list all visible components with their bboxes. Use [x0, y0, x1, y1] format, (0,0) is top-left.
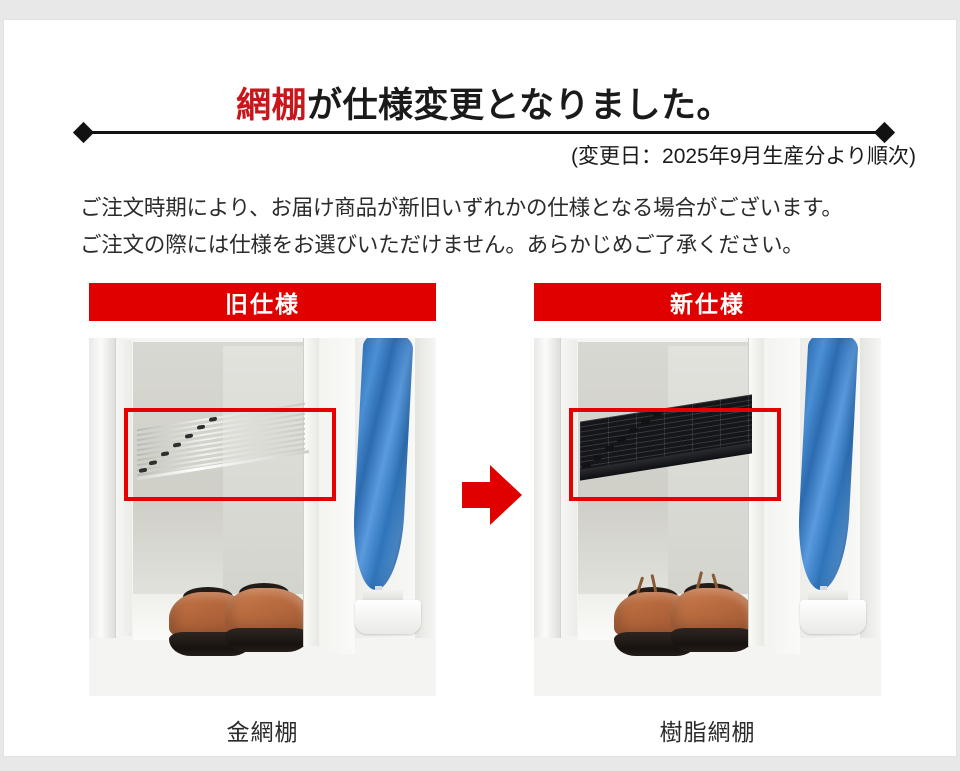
old-spec-bar: 旧仕様 — [89, 283, 436, 321]
body-line-1: ご注文時期により、お届け商品が新旧いずれかの仕様となる場合がございます。 — [80, 190, 900, 227]
old-spec-caption: 金網棚 — [89, 713, 436, 747]
new-spec-panel: 新仕様 — [534, 283, 881, 747]
locker-door-right — [415, 338, 436, 638]
title-rest: が仕様変更となりました。 — [307, 86, 732, 125]
new-spec-photo — [534, 338, 881, 696]
locker-door-left — [89, 338, 116, 638]
shoe-right — [670, 588, 754, 654]
notice-page: 網棚が仕様変更となりました。 (変更日：2025年9月生産分より順次) ご注文時… — [0, 0, 960, 771]
notice-card: 網棚が仕様変更となりました。 (変更日：2025年9月生産分より順次) ご注文時… — [3, 19, 957, 757]
old-spec-panel: 旧仕様 — [89, 283, 436, 747]
right-arrow-icon — [462, 465, 522, 525]
notice-body: ご注文時期により、お届け商品が新旧いずれかの仕様となる場合がございます。 ご注文… — [80, 190, 900, 264]
body-line-2: ご注文の際には仕様をお選びいただけません。あらかじめご了承ください。 — [80, 227, 900, 264]
umbrella-holder-tray — [355, 600, 421, 634]
locker-door-left — [534, 338, 561, 638]
divider-line — [83, 131, 885, 134]
locker-door-right — [860, 338, 881, 638]
shoe-sole — [225, 628, 309, 652]
new-spec-caption: 樹脂網棚 — [534, 713, 881, 747]
shoe-right — [225, 588, 309, 654]
umbrella-holder-tray — [800, 600, 866, 634]
title-highlight: 網棚 — [236, 86, 307, 125]
title-divider — [76, 125, 892, 141]
old-spec-photo — [89, 338, 436, 696]
highlight-box-new — [569, 408, 781, 501]
page-title: 網棚が仕様変更となりました。 — [4, 77, 960, 128]
change-date-note: (変更日：2025年9月生産分より順次) — [4, 140, 916, 170]
highlight-box-old — [124, 408, 336, 501]
new-spec-bar: 新仕様 — [534, 283, 881, 321]
shoe-sole — [670, 628, 754, 652]
